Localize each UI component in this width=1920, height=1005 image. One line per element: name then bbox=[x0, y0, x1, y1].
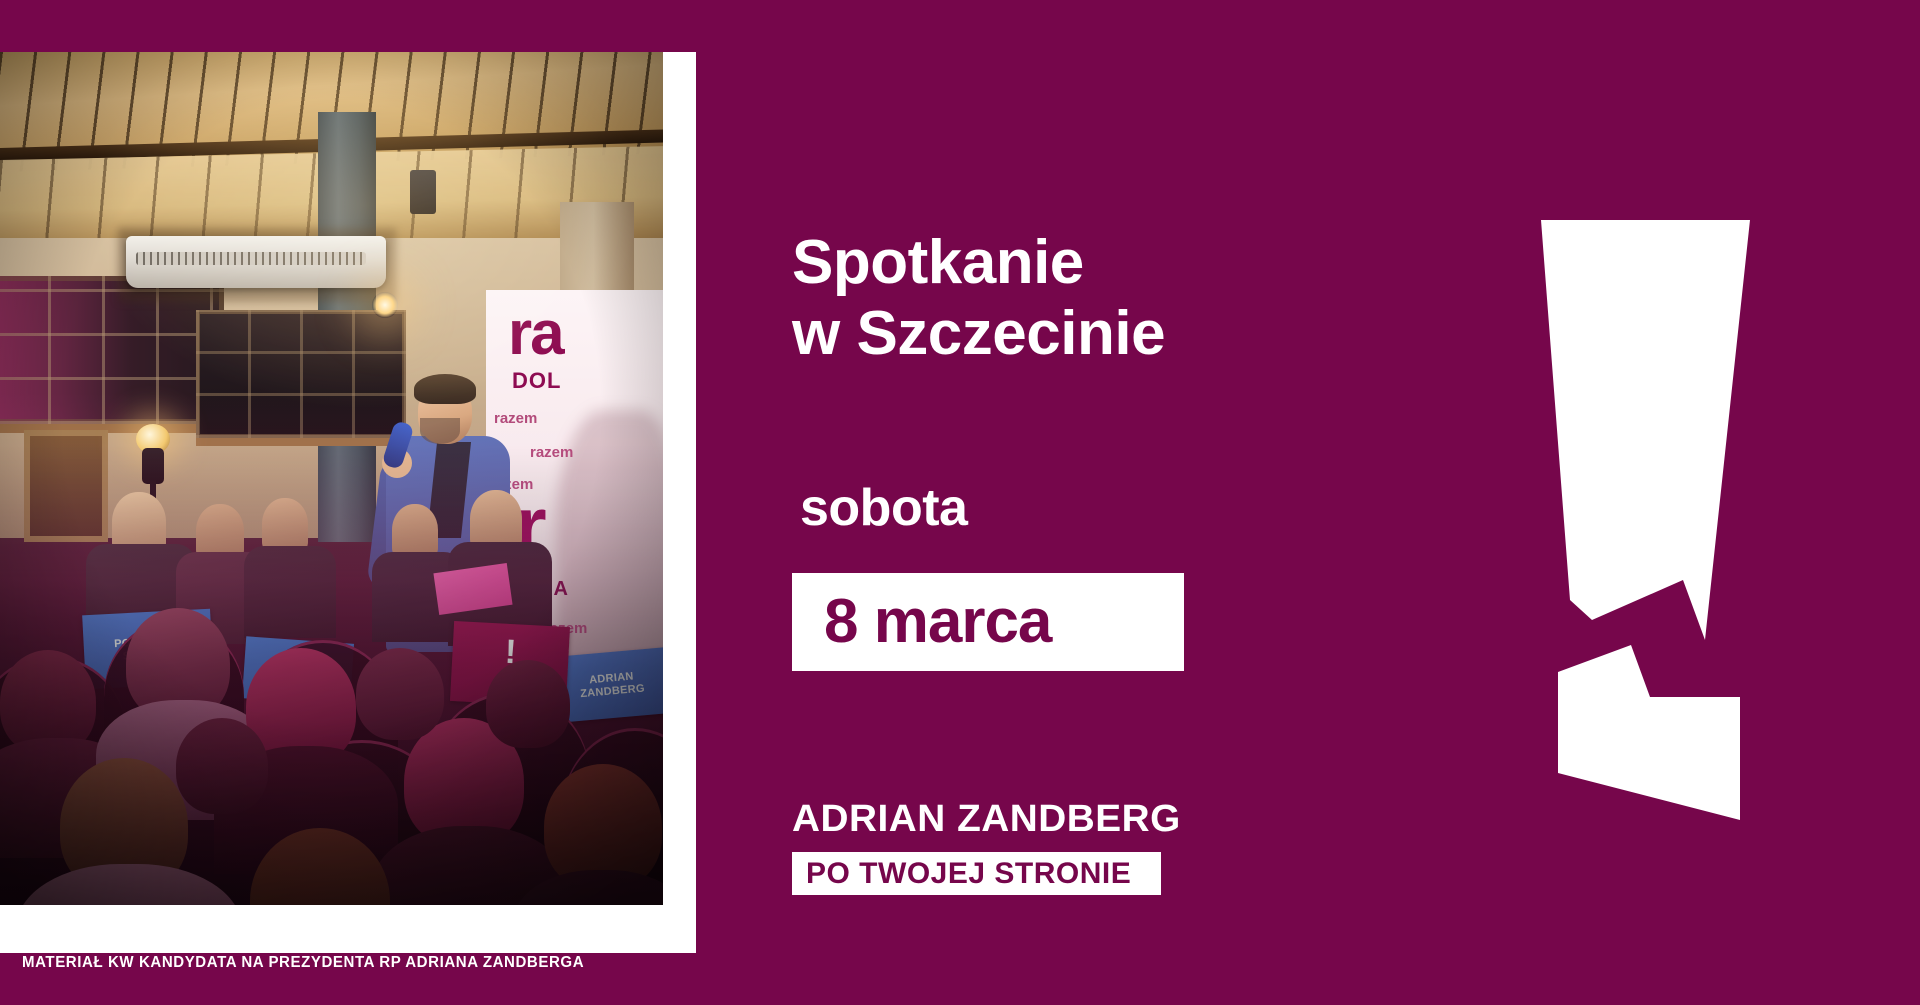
window-right bbox=[196, 310, 406, 446]
doorway bbox=[24, 430, 108, 542]
ac-vent bbox=[136, 252, 366, 265]
banner-word-sub: DOL bbox=[512, 368, 561, 394]
ceiling-spotlight bbox=[372, 292, 398, 318]
slogan-box: PO TWOJEJ STRONIE bbox=[792, 852, 1161, 895]
exclamation-mark-icon bbox=[1500, 180, 1820, 820]
campaign-slogan: PO TWOJEJ STRONIE bbox=[792, 859, 1131, 889]
legal-disclaimer: MATERIAŁ KW KANDYDATA NA PREZYDENTA RP A… bbox=[22, 954, 584, 972]
air-conditioner bbox=[126, 236, 386, 288]
window-grid bbox=[196, 310, 406, 438]
candidate-name: ADRIAN ZANDBERG bbox=[792, 798, 1181, 841]
audience-member-body bbox=[244, 546, 336, 638]
banner-word-large: ra bbox=[508, 298, 563, 369]
wall-speaker bbox=[410, 170, 436, 214]
crowd-head bbox=[486, 660, 570, 748]
audience-member-head bbox=[470, 490, 522, 550]
placard-text: ADRIANZANDBERG bbox=[555, 668, 663, 703]
banner-word-repeat: razem bbox=[530, 444, 573, 461]
speaker-hair bbox=[414, 374, 476, 404]
audience-member-head bbox=[392, 504, 438, 558]
campaign-poster: ra DOL razem razem razem r INNA razem bbox=[0, 0, 1920, 1005]
speaker-beard bbox=[420, 418, 460, 444]
page-title: Spotkanie w Szczecinie bbox=[792, 228, 1165, 369]
audience-member-head bbox=[262, 498, 308, 552]
event-date-box: 8 marca bbox=[792, 573, 1184, 671]
crowd-head bbox=[356, 648, 444, 740]
crowd-head bbox=[176, 718, 268, 814]
event-photo: ra DOL razem razem razem r INNA razem bbox=[0, 52, 663, 905]
event-weekday: sobota bbox=[800, 478, 967, 538]
event-date: 8 marca bbox=[792, 591, 1051, 653]
floor-lamp-body bbox=[142, 448, 164, 484]
banner-word-repeat: razem bbox=[494, 410, 537, 427]
photo-frame: ra DOL razem razem razem r INNA razem bbox=[0, 52, 696, 953]
